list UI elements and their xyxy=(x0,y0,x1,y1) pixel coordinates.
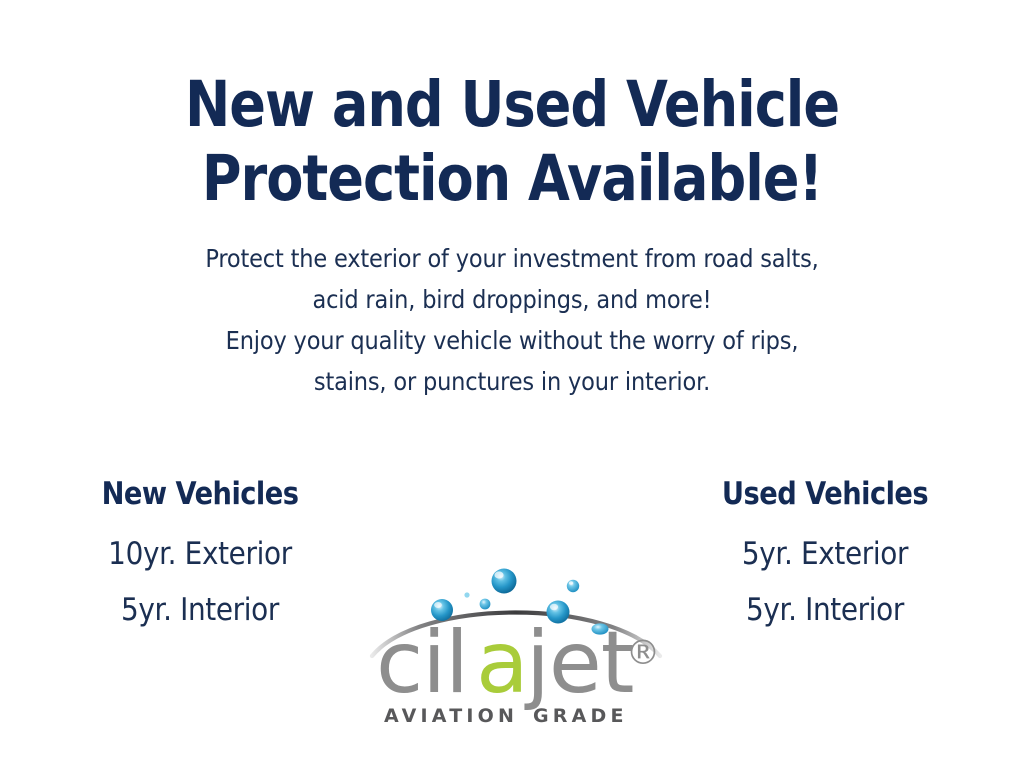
cilajet-logo: cil a jet ® AVIATION GRADE xyxy=(368,552,664,730)
used-vehicles-exterior-term: 5yr. Exterior xyxy=(672,526,978,582)
logo-tagline-right: GRADE xyxy=(533,705,628,727)
description-line-3: Enjoy your quality vehicle without the w… xyxy=(51,320,973,361)
logo-droplet-small-center xyxy=(480,599,491,610)
description-line-1: Protect the exterior of your investment … xyxy=(51,238,973,279)
new-vehicles-exterior-term: 10yr. Exterior xyxy=(47,526,353,582)
page-title: New and Used Vehicle Protection Availabl… xyxy=(0,68,1024,216)
title-line-1: New and Used Vehicle xyxy=(72,68,953,142)
logo-droplet-small-upper-right xyxy=(567,580,579,592)
used-vehicles-interior-term: 5yr. Interior xyxy=(672,582,978,638)
logo-wordmark-suffix: jet xyxy=(524,613,634,713)
logo-droplet-highlight-2 xyxy=(434,602,442,608)
logo-tagline-left: AVIATION xyxy=(384,705,518,727)
description-paragraph: Protect the exterior of your investment … xyxy=(0,238,1024,402)
new-vehicles-heading: New Vehicles xyxy=(50,474,349,514)
logo-droplet-highlight-3 xyxy=(550,604,558,610)
used-vehicles-column: Used Vehicles 5yr. Exterior 5yr. Interio… xyxy=(655,474,995,638)
registered-trademark-icon: ® xyxy=(626,633,660,673)
description-line-2: acid rain, bird droppings, and more! xyxy=(51,279,973,320)
logo-droplet-highlight-4 xyxy=(569,581,573,585)
slide-canvas: New and Used Vehicle Protection Availabl… xyxy=(0,0,1024,768)
logo-wordmark-accent-letter: a xyxy=(476,613,528,713)
logo-wordmark-prefix: cil xyxy=(376,613,468,713)
logo-droplet-large-center xyxy=(492,569,517,594)
logo-droplet-highlight-1 xyxy=(494,571,503,578)
new-vehicles-interior-term: 5yr. Interior xyxy=(47,582,353,638)
used-vehicles-heading: Used Vehicles xyxy=(675,474,974,514)
description-line-4: stains, or punctures in your interior. xyxy=(51,361,973,402)
new-vehicles-column: New Vehicles 10yr. Exterior 5yr. Interio… xyxy=(30,474,370,638)
title-line-2: Protection Available! xyxy=(72,142,953,216)
logo-droplet-tiny-left xyxy=(464,592,469,597)
